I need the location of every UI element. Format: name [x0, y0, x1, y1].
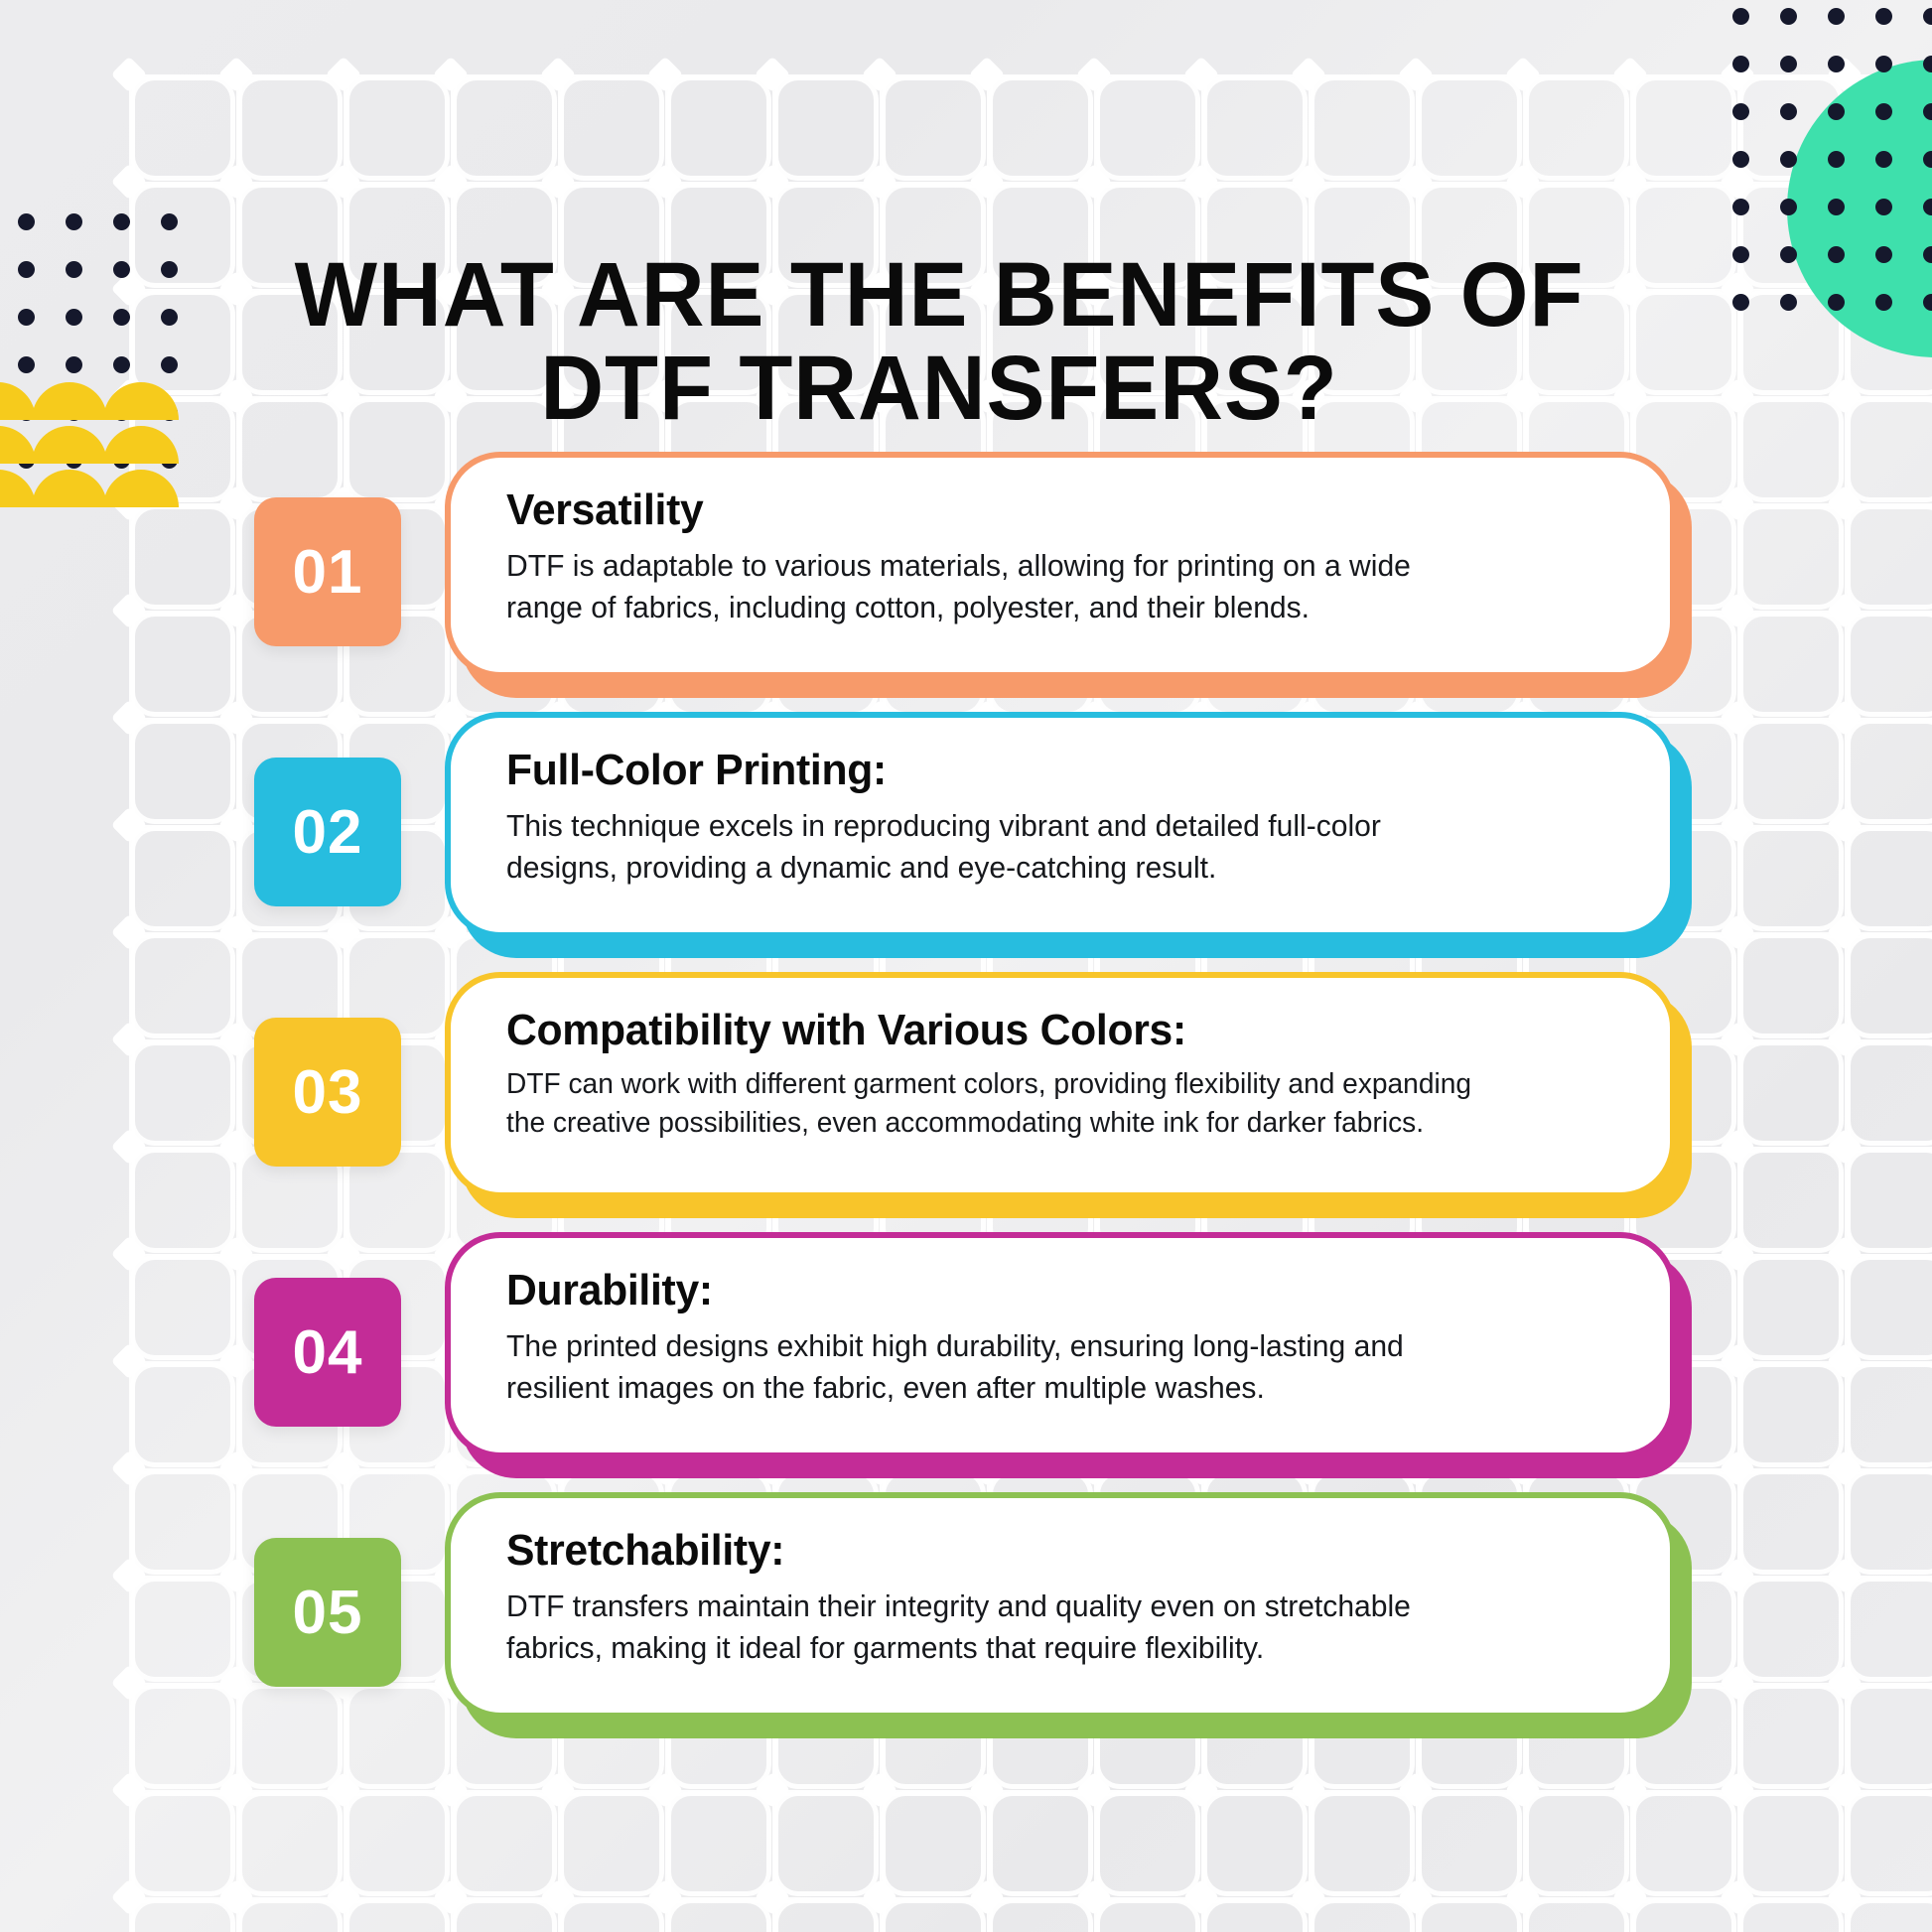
grid-cell [242, 1903, 338, 1932]
grid-diamond [755, 1879, 791, 1916]
card-description-line: DTF can work with different garment colo… [506, 1065, 1583, 1104]
infographic-poster: WHAT ARE THE BENEFITS OF DTF TRANSFERS? … [0, 0, 1932, 1932]
grid-cell [886, 1903, 981, 1932]
grid-diamond [862, 1879, 898, 1916]
benefit-card[interactable]: Stretchability:DTF transfers maintain th… [445, 1492, 1676, 1723]
grid-diamond [1505, 57, 1542, 93]
decorative-dot [161, 261, 178, 278]
grid-cell [1529, 1903, 1624, 1932]
card-description-line: designs, providing a dynamic and eye-cat… [506, 847, 1583, 889]
grid-diamond [1612, 1772, 1649, 1809]
grid-diamond [218, 57, 255, 93]
card-description-line: The printed designs exhibit high durabil… [506, 1325, 1583, 1367]
grid-diamond [1398, 57, 1435, 93]
benefit-card-row: 04Durability:The printed designs exhibit… [0, 1232, 1932, 1492]
grid-diamond [111, 57, 148, 93]
grid-cell [1743, 1903, 1839, 1932]
decorative-dot [1732, 294, 1749, 311]
grid-diamond [647, 1879, 684, 1916]
card-number-badge[interactable]: 02 [254, 758, 401, 906]
grid-cell [1529, 1796, 1624, 1891]
grid-diamond [540, 164, 577, 201]
decorative-dot [18, 309, 35, 326]
grid-cell [1207, 80, 1303, 176]
grid-diamond [326, 57, 362, 93]
grid-diamond [1183, 1879, 1220, 1916]
grid-cell [1100, 1796, 1195, 1891]
grid-diamond [1612, 378, 1649, 415]
grid-diamond [969, 1772, 1006, 1809]
yellow-dome [32, 382, 107, 420]
decorative-dot [113, 213, 130, 230]
grid-cell [1422, 80, 1517, 176]
grid-diamond [111, 1879, 148, 1916]
card-description: The printed designs exhibit high durabil… [506, 1325, 1583, 1409]
decorative-dot [66, 356, 82, 373]
grid-diamond [1183, 57, 1220, 93]
grid-cell [564, 1796, 659, 1891]
grid-diamond [540, 1772, 577, 1809]
grid-cell [671, 1903, 766, 1932]
grid-cell [671, 80, 766, 176]
decorative-dot [1732, 151, 1749, 168]
grid-cell [1636, 188, 1731, 283]
grid-cell [1636, 1796, 1731, 1891]
grid-diamond [755, 1772, 791, 1809]
grid-diamond [1076, 1772, 1113, 1809]
grid-cell [349, 1796, 445, 1891]
grid-cell [564, 1903, 659, 1932]
card-description: DTF can work with different garment colo… [506, 1065, 1583, 1144]
decorative-dot [18, 404, 35, 421]
grid-diamond [218, 378, 255, 415]
grid-diamond [111, 378, 148, 415]
grid-diamond [218, 1772, 255, 1809]
decorative-dot [161, 404, 178, 421]
decorative-dot [113, 404, 130, 421]
grid-diamond [647, 1772, 684, 1809]
grid-cell [886, 1796, 981, 1891]
grid-cell [1743, 1796, 1839, 1891]
decorative-dot [1732, 199, 1749, 215]
decorative-dot [66, 261, 82, 278]
grid-diamond [1720, 1879, 1756, 1916]
card-description-line: DTF is adaptable to various materials, a… [506, 545, 1583, 587]
grid-cell [1314, 1796, 1410, 1891]
benefit-card-row: 01VersatilityDTF is adaptable to various… [0, 452, 1932, 712]
card-description-line: range of fabrics, including cotton, poly… [506, 587, 1583, 628]
grid-diamond [1505, 164, 1542, 201]
grid-cell [457, 1796, 552, 1891]
grid-diamond [433, 57, 470, 93]
grid-diamond [862, 164, 898, 201]
card-description-line: fabrics, making it ideal for garments th… [506, 1627, 1583, 1669]
grid-cell [135, 80, 230, 176]
grid-cell [1422, 1796, 1517, 1891]
card-description-line: This technique excels in reproducing vib… [506, 805, 1583, 847]
grid-cell [778, 1903, 874, 1932]
grid-diamond [433, 1772, 470, 1809]
grid-diamond [862, 1772, 898, 1809]
decorative-dot [1828, 8, 1845, 25]
card-description-line: the creative possibilities, even accommo… [506, 1104, 1583, 1143]
grid-cell [1636, 295, 1731, 390]
card-heading: Full-Color Printing: [506, 746, 1583, 795]
grid-cell [1636, 80, 1731, 176]
benefit-card[interactable]: Durability:The printed designs exhibit h… [445, 1232, 1676, 1462]
benefit-card[interactable]: VersatilityDTF is adaptable to various m… [445, 452, 1676, 682]
grid-diamond [111, 164, 148, 201]
grid-cell [1314, 1903, 1410, 1932]
grid-diamond [1076, 164, 1113, 201]
grid-cell [1207, 1796, 1303, 1891]
card-heading: Durability: [506, 1266, 1583, 1315]
grid-diamond [1076, 57, 1113, 93]
grid-diamond [433, 164, 470, 201]
card-heading: Stretchability: [506, 1526, 1583, 1576]
decorative-dot [161, 213, 178, 230]
grid-cell [1851, 1903, 1932, 1932]
grid-diamond [1076, 1879, 1113, 1916]
grid-diamond [326, 164, 362, 201]
grid-diamond [1291, 1772, 1327, 1809]
grid-diamond [1720, 57, 1756, 93]
decorative-dot [161, 309, 178, 326]
benefit-card-row: 05Stretchability:DTF transfers maintain … [0, 1492, 1932, 1752]
decorative-dot [1732, 246, 1749, 263]
grid-cell [1743, 295, 1839, 390]
grid-diamond [218, 1879, 255, 1916]
grid-diamond [1291, 1879, 1327, 1916]
grid-cell [564, 80, 659, 176]
grid-diamond [433, 1879, 470, 1916]
card-body: Durability:The printed designs exhibit h… [445, 1232, 1676, 1458]
benefit-card[interactable]: Full-Color Printing:This technique excel… [445, 712, 1676, 942]
grid-diamond [647, 164, 684, 201]
card-heading: Compatibility with Various Colors: [506, 1006, 1583, 1055]
grid-cell [242, 80, 338, 176]
grid-cell [671, 1796, 766, 1891]
grid-diamond [1720, 164, 1756, 201]
decorative-dot [113, 261, 130, 278]
yellow-dome [103, 382, 179, 420]
grid-cell [1636, 1903, 1731, 1932]
grid-diamond [755, 164, 791, 201]
grid-diamond [1183, 1772, 1220, 1809]
decorative-dot [1923, 8, 1932, 25]
decorative-dot [1875, 8, 1892, 25]
grid-diamond [1291, 164, 1327, 201]
grid-cell [135, 1796, 230, 1891]
grid-diamond [1827, 1879, 1863, 1916]
card-body: Stretchability:DTF transfers maintain th… [445, 1492, 1676, 1719]
card-description-line: resilient images on the fabric, even aft… [506, 1367, 1583, 1409]
decorative-dot [1780, 103, 1797, 120]
grid-diamond [1827, 378, 1863, 415]
grid-diamond [1505, 1772, 1542, 1809]
grid-diamond [1505, 1879, 1542, 1916]
grid-cell [993, 1796, 1088, 1891]
grid-cell [1100, 80, 1195, 176]
card-description-line: DTF transfers maintain their integrity a… [506, 1586, 1583, 1627]
benefit-card[interactable]: Compatibility with Various Colors:DTF ca… [445, 972, 1676, 1202]
grid-cell [993, 1903, 1088, 1932]
decorative-dot [1780, 56, 1797, 72]
grid-diamond [326, 1772, 362, 1809]
decorative-dot [18, 261, 35, 278]
card-body: VersatilityDTF is adaptable to various m… [445, 452, 1676, 678]
grid-cell [457, 80, 552, 176]
grid-cell [1529, 80, 1624, 176]
grid-diamond [1720, 1772, 1756, 1809]
decorative-dot [1732, 103, 1749, 120]
grid-diamond [1720, 378, 1756, 415]
grid-cell [349, 1903, 445, 1932]
benefit-card-row: 02Full-Color Printing:This technique exc… [0, 712, 1932, 972]
grid-diamond [647, 57, 684, 93]
grid-cell [778, 80, 874, 176]
grid-diamond [1720, 271, 1756, 308]
mint-circle-decoration [1787, 60, 1932, 357]
card-number-badge[interactable]: 04 [254, 1278, 401, 1427]
grid-diamond [969, 57, 1006, 93]
decorative-dot [18, 213, 35, 230]
grid-diamond [540, 57, 577, 93]
grid-cell [1422, 1903, 1517, 1932]
grid-diamond [1612, 57, 1649, 93]
grid-diamond [969, 164, 1006, 201]
card-heading: Versatility [506, 485, 1583, 535]
card-body: Full-Color Printing:This technique excel… [445, 712, 1676, 938]
decorative-dot [1828, 56, 1845, 72]
decorative-dot [1780, 8, 1797, 25]
decorative-dot [1732, 56, 1749, 72]
decorative-dot [161, 356, 178, 373]
grid-diamond [540, 1879, 577, 1916]
grid-cell [886, 80, 981, 176]
grid-cell [1207, 1903, 1303, 1932]
grid-cell [349, 80, 445, 176]
grid-cell [1851, 1796, 1932, 1891]
grid-cell [778, 1796, 874, 1891]
grid-cell [457, 1903, 552, 1932]
grid-cell [1100, 1903, 1195, 1932]
grid-cell [135, 295, 230, 390]
grid-cell [1314, 80, 1410, 176]
card-description: This technique excels in reproducing vib… [506, 805, 1583, 889]
grid-diamond [218, 271, 255, 308]
grid-diamond [1398, 1879, 1435, 1916]
card-description: DTF transfers maintain their integrity a… [506, 1586, 1583, 1669]
benefit-card-list: 01VersatilityDTF is adaptable to various… [0, 452, 1932, 1752]
decorative-dot [1780, 294, 1797, 311]
grid-cell [135, 1903, 230, 1932]
grid-diamond [862, 57, 898, 93]
grid-diamond [1612, 164, 1649, 201]
grid-diamond [1398, 164, 1435, 201]
decorative-dot [66, 404, 82, 421]
yellow-dome [0, 382, 36, 420]
page-title: WHAT ARE THE BENEFITS OF DTF TRANSFERS? [262, 248, 1615, 437]
grid-cell [993, 80, 1088, 176]
benefit-card-row: 03Compatibility with Various Colors:DTF … [0, 972, 1932, 1232]
grid-diamond [111, 271, 148, 308]
decorative-dot [113, 309, 130, 326]
grid-diamond [1612, 271, 1649, 308]
card-number-badge[interactable]: 03 [254, 1018, 401, 1167]
grid-cell [135, 188, 230, 283]
grid-diamond [326, 1879, 362, 1916]
grid-diamond [1827, 1772, 1863, 1809]
card-body: Compatibility with Various Colors:DTF ca… [445, 972, 1676, 1198]
decorative-dot [18, 356, 35, 373]
decorative-dot [66, 213, 82, 230]
grid-diamond [1183, 164, 1220, 201]
card-number-badge[interactable]: 01 [254, 497, 401, 646]
left-dot-grid [18, 213, 226, 442]
grid-diamond [1612, 1879, 1649, 1916]
grid-diamond [755, 57, 791, 93]
decorative-dot [66, 309, 82, 326]
card-number-badge[interactable]: 05 [254, 1538, 401, 1687]
grid-diamond [1291, 57, 1327, 93]
grid-diamond [1398, 1772, 1435, 1809]
card-description: DTF is adaptable to various materials, a… [506, 545, 1583, 628]
decorative-dot [113, 356, 130, 373]
grid-diamond [218, 164, 255, 201]
grid-diamond [969, 1879, 1006, 1916]
grid-cell [242, 1796, 338, 1891]
decorative-dot [1732, 8, 1749, 25]
grid-diamond [111, 1772, 148, 1809]
